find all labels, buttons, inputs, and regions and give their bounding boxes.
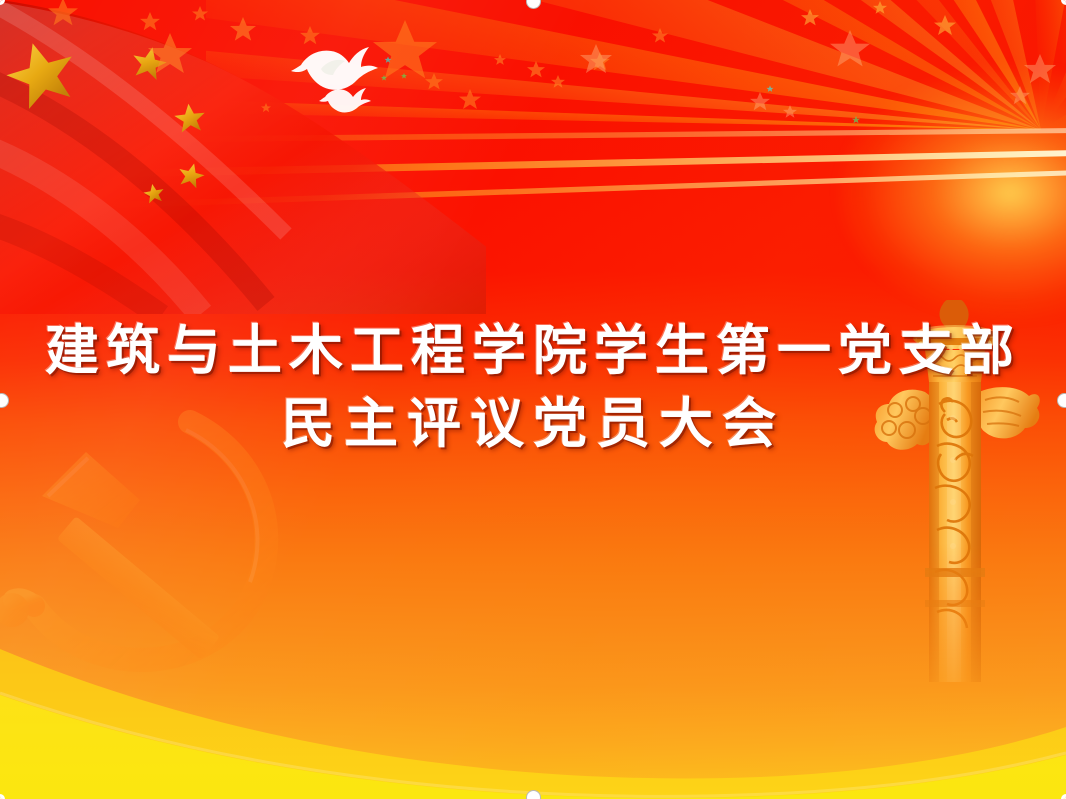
slide-title[interactable]: 建筑与土木工程学院学生第一党支部 民主评议党员大会 bbox=[0, 314, 1066, 460]
title-line-1: 建筑与土木工程学院学生第一党支部 bbox=[0, 314, 1066, 387]
corner-bottom-right bbox=[1061, 794, 1066, 799]
resize-handle-bottom[interactable] bbox=[526, 790, 541, 799]
peace-dove-icon bbox=[265, 25, 395, 115]
light-streak-icon bbox=[660, 20, 1066, 320]
title-line-2: 民主评议党员大会 bbox=[0, 387, 1066, 460]
resize-handle-right[interactable] bbox=[1057, 393, 1066, 408]
presentation-slide[interactable]: 建筑与土木工程学院学生第一党支部 民主评议党员大会 bbox=[0, 0, 1066, 799]
